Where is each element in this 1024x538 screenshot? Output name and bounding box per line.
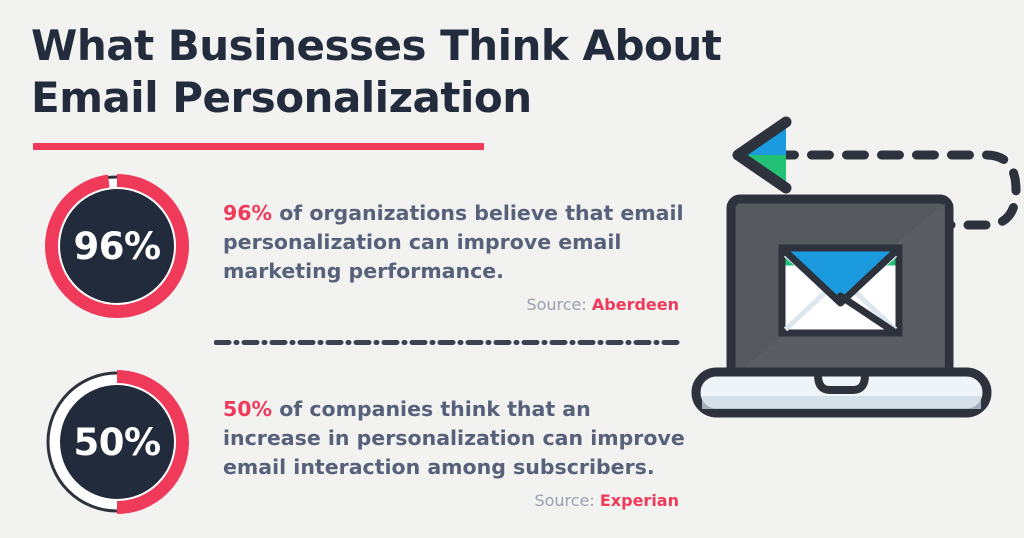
donut-svg-96: [43, 172, 191, 320]
stat-statement: 50% of companies think that an increase …: [223, 395, 688, 482]
source-label: Source:: [534, 491, 594, 510]
title-underline-rule: [33, 143, 484, 150]
donut-chart-50: 50%: [43, 368, 191, 516]
title-line-2: Email Personalization: [31, 72, 721, 124]
donut-chart-96: 96%: [43, 172, 191, 320]
envelope-icon: [782, 248, 899, 333]
laptop-email-illustration: [686, 100, 1024, 420]
stat-text-block: 96% of organizations believe that email …: [223, 199, 688, 314]
stat-body-text: of companies think that an increase in p…: [223, 397, 685, 479]
source-name: Experian: [600, 491, 679, 510]
stat-percent-inline: 50%: [223, 397, 272, 421]
laptop-base: [696, 372, 987, 413]
stat-body-text: of organizations believe that email pers…: [223, 201, 684, 283]
source-label: Source:: [526, 295, 586, 314]
title-line-1: What Businesses Think About: [31, 20, 721, 72]
section-divider: [214, 340, 684, 345]
stat-text-block: 50% of companies think that an increase …: [223, 395, 688, 510]
page-title: What Businesses Think About Email Person…: [31, 20, 721, 124]
arrow-head-icon: [736, 122, 786, 188]
stat-percent-inline: 96%: [223, 201, 272, 225]
infographic-canvas: What Businesses Think About Email Person…: [0, 0, 1024, 538]
donut-svg-50: [43, 368, 191, 516]
stat-source: Source: Experian: [223, 491, 688, 510]
stat-statement: 96% of organizations believe that email …: [223, 199, 688, 286]
stat-source: Source: Aberdeen: [223, 295, 688, 314]
source-name: Aberdeen: [592, 295, 679, 314]
